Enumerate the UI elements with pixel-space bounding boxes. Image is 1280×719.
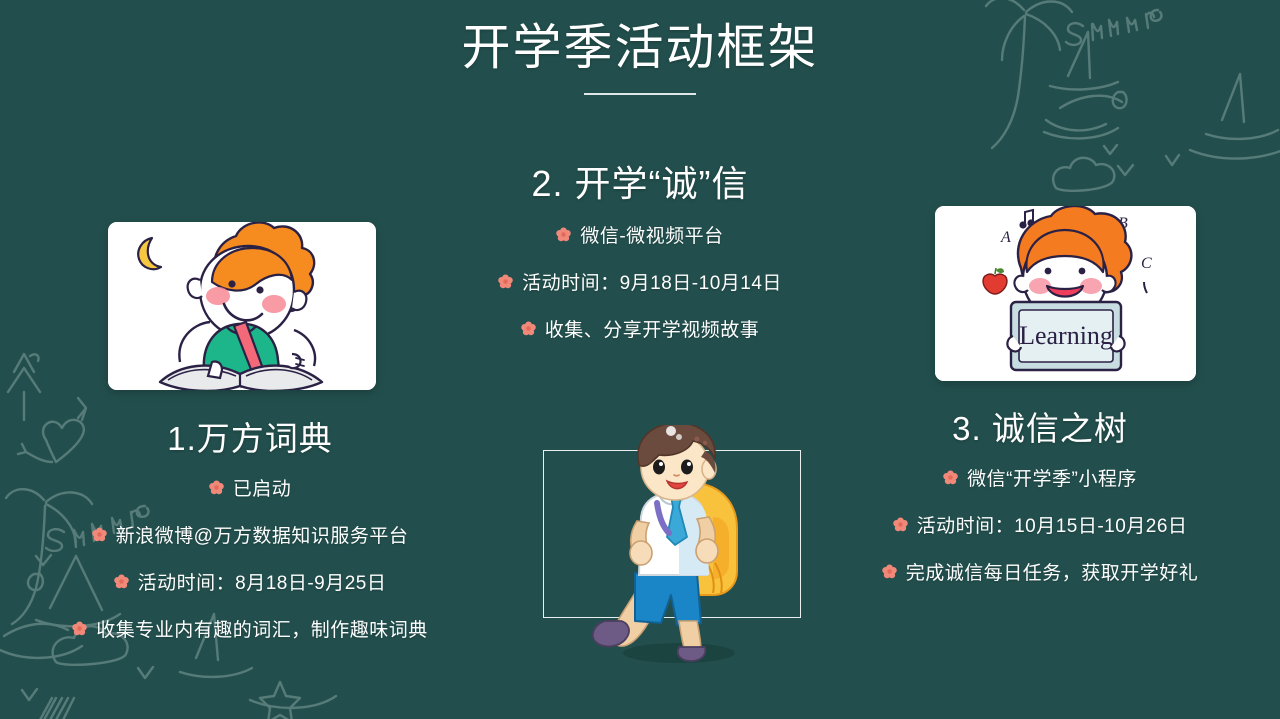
- list-item: 收集专业内有趣的词汇，制作趣味词典: [0, 615, 500, 642]
- section-1-bullets: 已启动 新浪微博@万方数据知识服务平台: [0, 474, 500, 642]
- bullet-label: 已启动: [233, 474, 292, 501]
- section-3-heading: 3. 诚信之树: [800, 402, 1280, 450]
- bird-doodle-b: [1118, 165, 1133, 175]
- flower-icon: [882, 564, 897, 579]
- star-doodle: [260, 682, 300, 719]
- section-2-block: 2. 开学“诚”信 微信-微视频平台: [390, 155, 890, 342]
- bird-doodle-left-a: [22, 689, 37, 700]
- bird-doodle-a: [1104, 145, 1117, 154]
- kid-reading-book-illustration: [108, 222, 376, 390]
- pine-tree-doodle: [8, 354, 40, 420]
- flower-icon: [521, 321, 536, 336]
- flower-icon: [92, 527, 107, 542]
- list-item: 微信“开学季”小程序: [800, 464, 1280, 491]
- bullet-label: 活动时间：8月18日-9月25日: [138, 568, 387, 595]
- wave-doodle-bottom: [250, 696, 336, 708]
- section-2-heading: 2. 开学“诚”信: [390, 155, 890, 207]
- learning-sign-label: Learning: [1019, 321, 1113, 350]
- flower-icon: [943, 470, 958, 485]
- bullet-label: 微信“开学季”小程序: [967, 464, 1137, 491]
- list-item: 收集、分享开学视频故事: [390, 315, 890, 342]
- center-photo-frame: [543, 450, 801, 618]
- flower-icon: [893, 517, 908, 532]
- list-item: 微信-微视频平台: [390, 221, 890, 248]
- bullet-label: 收集专业内有趣的词汇，制作趣味词典: [96, 615, 428, 642]
- section-2-bullets: 微信-微视频平台 活动时间：9月18日-10月14日: [390, 221, 890, 342]
- slide-canvas: 开学季活动框架: [0, 0, 1280, 719]
- flower-icon: [556, 227, 571, 242]
- bird-doodle-left-b: [138, 667, 153, 678]
- letter-c-label: C: [1141, 255, 1152, 272]
- flower-icon: [72, 621, 87, 636]
- flower-icon: [498, 274, 513, 289]
- flower-icon: [114, 574, 129, 589]
- list-item: 活动时间：8月18日-9月25日: [0, 568, 500, 595]
- section-1-block: 1.万方词典 已启动: [0, 412, 500, 642]
- bullet-label: 微信-微视频平台: [580, 221, 723, 248]
- bullet-label: 活动时间：9月18日-10月14日: [522, 268, 782, 295]
- bullet-label: 完成诚信每日任务，获取开学好礼: [906, 558, 1199, 585]
- list-item: 新浪微博@万方数据知识服务平台: [0, 521, 500, 548]
- list-item: 已启动: [0, 474, 500, 501]
- bullet-label: 新浪微博@万方数据知识服务平台: [116, 521, 409, 548]
- title-divider: [584, 93, 696, 95]
- title-block: 开学季活动框架: [0, 20, 1280, 95]
- girl-holding-learning-sign-illustration: A B C: [935, 206, 1196, 381]
- wave-doodle-top: [1044, 96, 1122, 139]
- letter-a-label: A: [1000, 229, 1011, 246]
- list-item: 完成诚信每日任务，获取开学好礼: [800, 558, 1280, 585]
- page-title: 开学季活动框架: [0, 20, 1280, 76]
- bullet-label: 活动时间：10月15日-10月26日: [917, 511, 1188, 538]
- list-item: 活动时间：9月18日-10月14日: [390, 268, 890, 295]
- bird-doodle-c: [1166, 155, 1179, 165]
- list-item: 活动时间：10月15日-10月26日: [800, 511, 1280, 538]
- section-3-bullets: 微信“开学季”小程序 活动时间：10月15日-10月26日: [800, 464, 1280, 585]
- flower-icon: [209, 480, 224, 495]
- bullet-label: 收集、分享开学视频故事: [545, 315, 760, 342]
- section-1-heading: 1.万方词典: [0, 412, 500, 460]
- section-3-block: 3. 诚信之树 微信“开学季”小程序: [800, 402, 1280, 585]
